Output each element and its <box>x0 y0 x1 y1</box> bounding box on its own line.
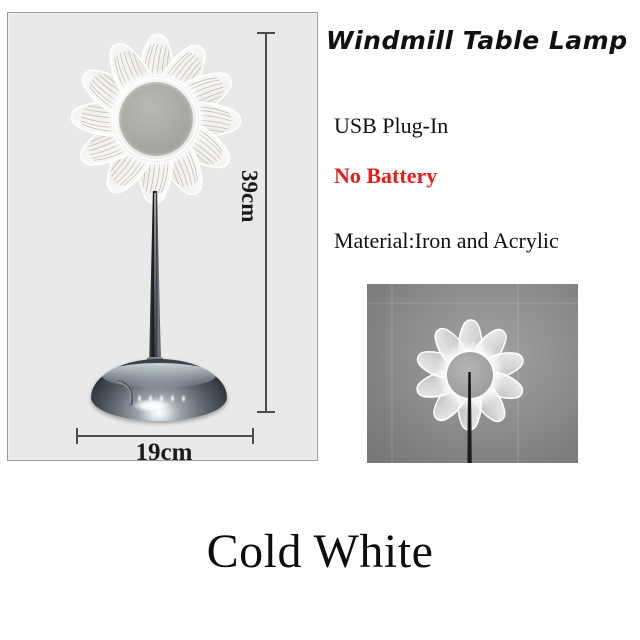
product-info-graphic: 19cm 39cm Windmill Table Lamp USB Plug-I… <box>0 0 640 640</box>
spec-battery: No Battery <box>334 163 437 189</box>
lamp-center-disc <box>113 76 199 162</box>
color-variant-caption: Cold White <box>0 524 640 579</box>
vertical-measure-icon <box>265 32 267 413</box>
lamp-stem-highlight <box>154 193 156 363</box>
lamp-base <box>91 359 227 421</box>
horizontal-measure-icon <box>76 435 254 437</box>
base-sparkle <box>159 394 164 403</box>
base-sparkle <box>170 394 175 403</box>
spec-material: Material:Iron and Acrylic <box>334 228 559 254</box>
lamp-product-illustration <box>8 13 317 460</box>
vertical-measure-cap-bottom <box>257 411 275 413</box>
lamp-center-face <box>119 82 193 156</box>
power-cable-icon <box>114 379 138 409</box>
product-photo-panel: 19cm <box>7 12 318 461</box>
base-sparkle <box>181 394 186 403</box>
lit-lamp-inset-photo <box>367 284 578 463</box>
spec-power-source: USB Plug-In <box>334 113 448 139</box>
width-dimension-label: 19cm <box>8 439 318 461</box>
vertical-measure-cap-top <box>257 32 275 34</box>
page-title: Windmill Table Lamp <box>326 26 638 55</box>
fabric-fold <box>391 284 393 463</box>
base-sparkle <box>148 394 153 403</box>
height-dimension-label: 39cm <box>236 170 262 222</box>
fabric-fold <box>367 302 578 304</box>
flower-head <box>61 24 251 214</box>
